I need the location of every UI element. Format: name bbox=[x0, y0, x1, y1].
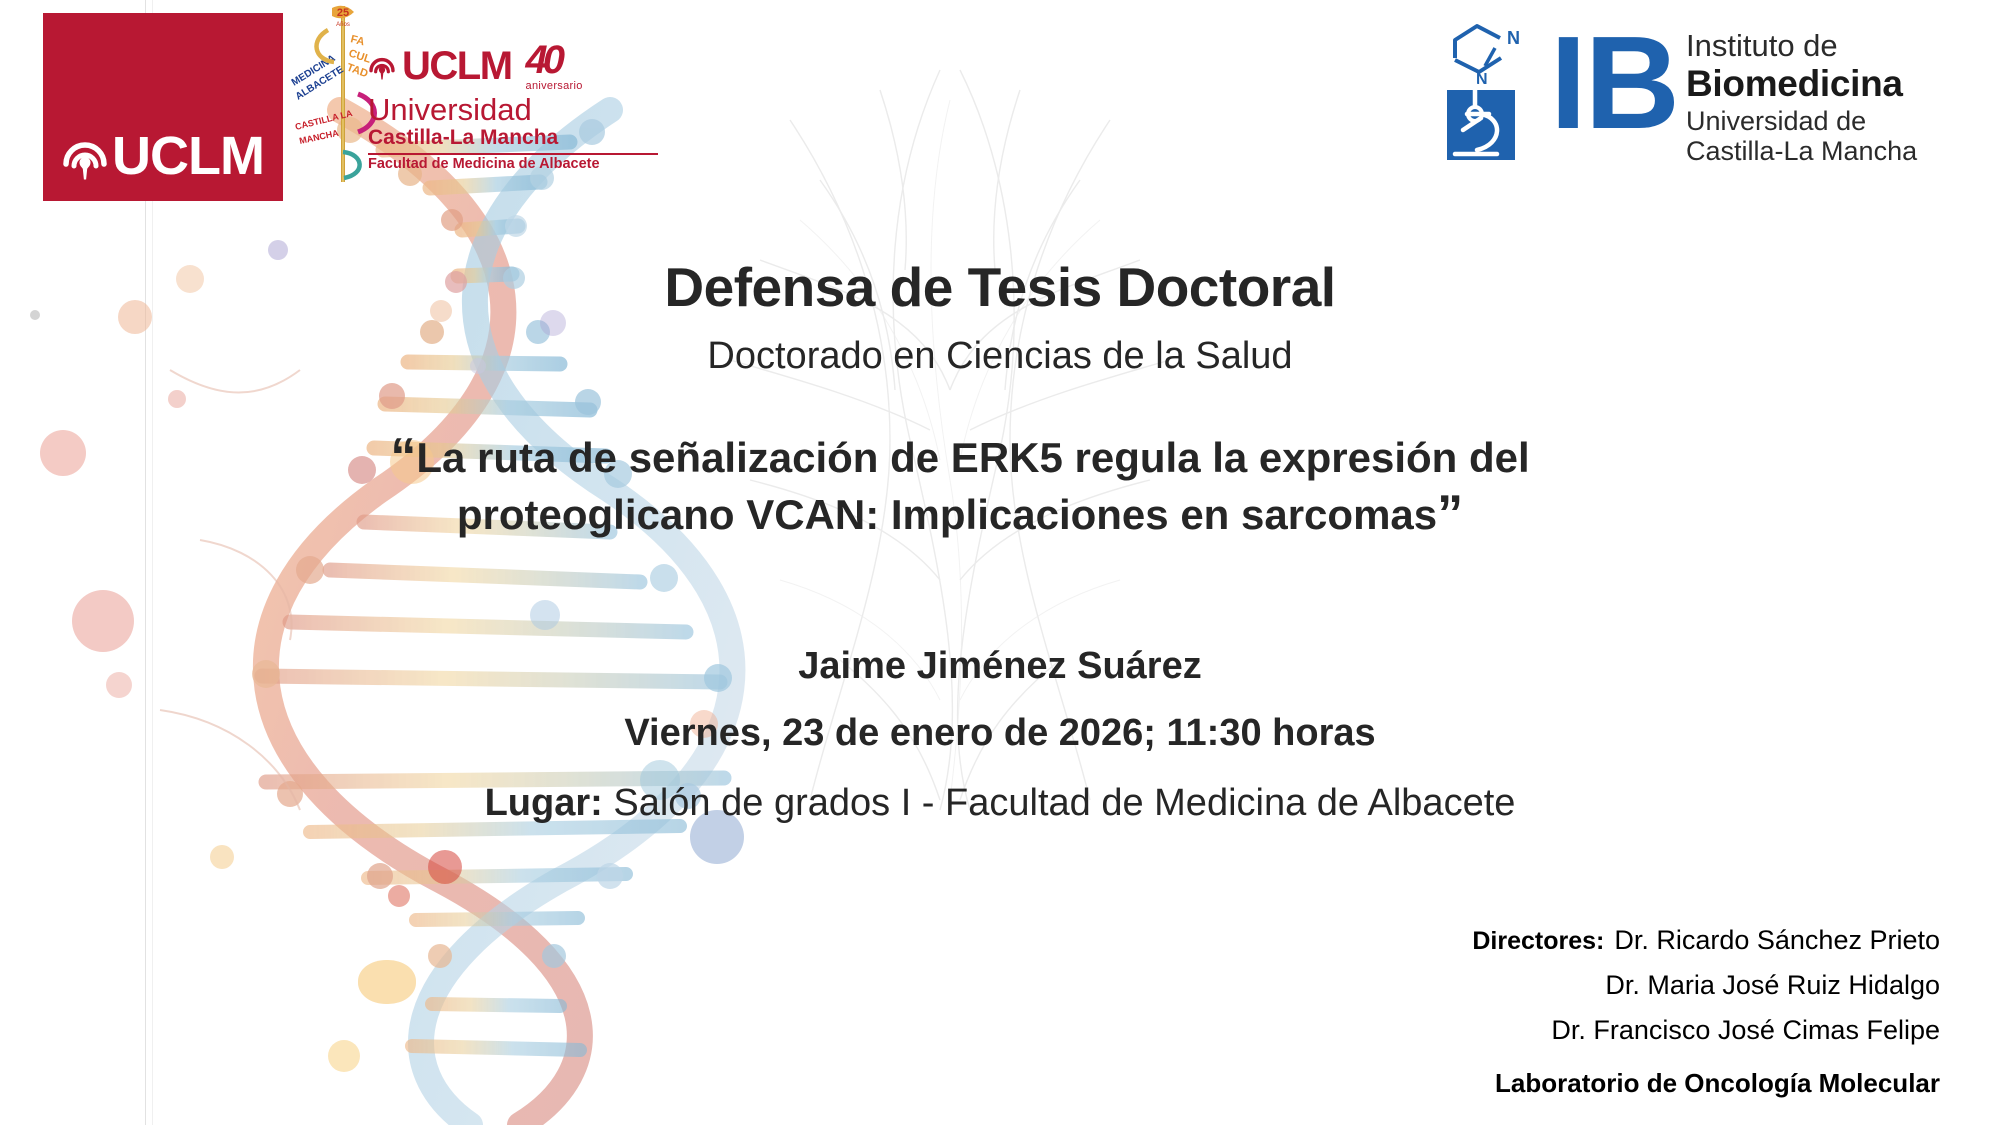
event-datetime: Viernes, 23 de enero de 2026; 11:30 hora… bbox=[0, 712, 2000, 755]
laboratory-name: Laboratorio de Oncología Molecular bbox=[1180, 1068, 1940, 1099]
director-name-3: Dr. Francisco José Cimas Felipe bbox=[1180, 1015, 1940, 1046]
page-title: Defensa de Tesis Doctoral bbox=[0, 255, 2000, 319]
thesis-line-1: La ruta de señalización de ERK5 regula l… bbox=[416, 434, 1529, 481]
quote-open: “ bbox=[390, 428, 416, 486]
director-name-2: Dr. Maria José Ruiz Hidalgo bbox=[1180, 970, 1940, 1001]
director-name-1: Dr. Ricardo Sánchez Prieto bbox=[1614, 925, 1940, 956]
directors-label: Directores: bbox=[1472, 927, 1604, 956]
thesis-line-2: proteoglicano VCAN: Implicaciones en sar… bbox=[457, 491, 1437, 538]
location-label: Lugar: bbox=[485, 782, 603, 824]
programme-subtitle: Doctorado en Ciencias de la Salud bbox=[0, 335, 2000, 378]
thesis-title: “La ruta de señalización de ERK5 regula … bbox=[260, 430, 1660, 543]
location-value: Salón de grados I - Facultad de Medicina… bbox=[613, 782, 1515, 824]
quote-close: ” bbox=[1437, 485, 1463, 543]
poster-content: Defensa de Tesis Doctoral Doctorado en C… bbox=[0, 0, 2000, 1125]
candidate-name: Jaime Jiménez Suárez bbox=[0, 645, 2000, 688]
directors-block: Directores: Dr. Ricardo Sánchez Prieto D… bbox=[1180, 925, 1940, 1099]
poster-canvas: UCLM 25 Años FA CUL TAD MEDICINA AL bbox=[0, 0, 2000, 1125]
directors-first-row: Directores: Dr. Ricardo Sánchez Prieto bbox=[1180, 925, 1940, 956]
event-location: Lugar: Salón de grados I - Facultad de M… bbox=[0, 782, 2000, 825]
